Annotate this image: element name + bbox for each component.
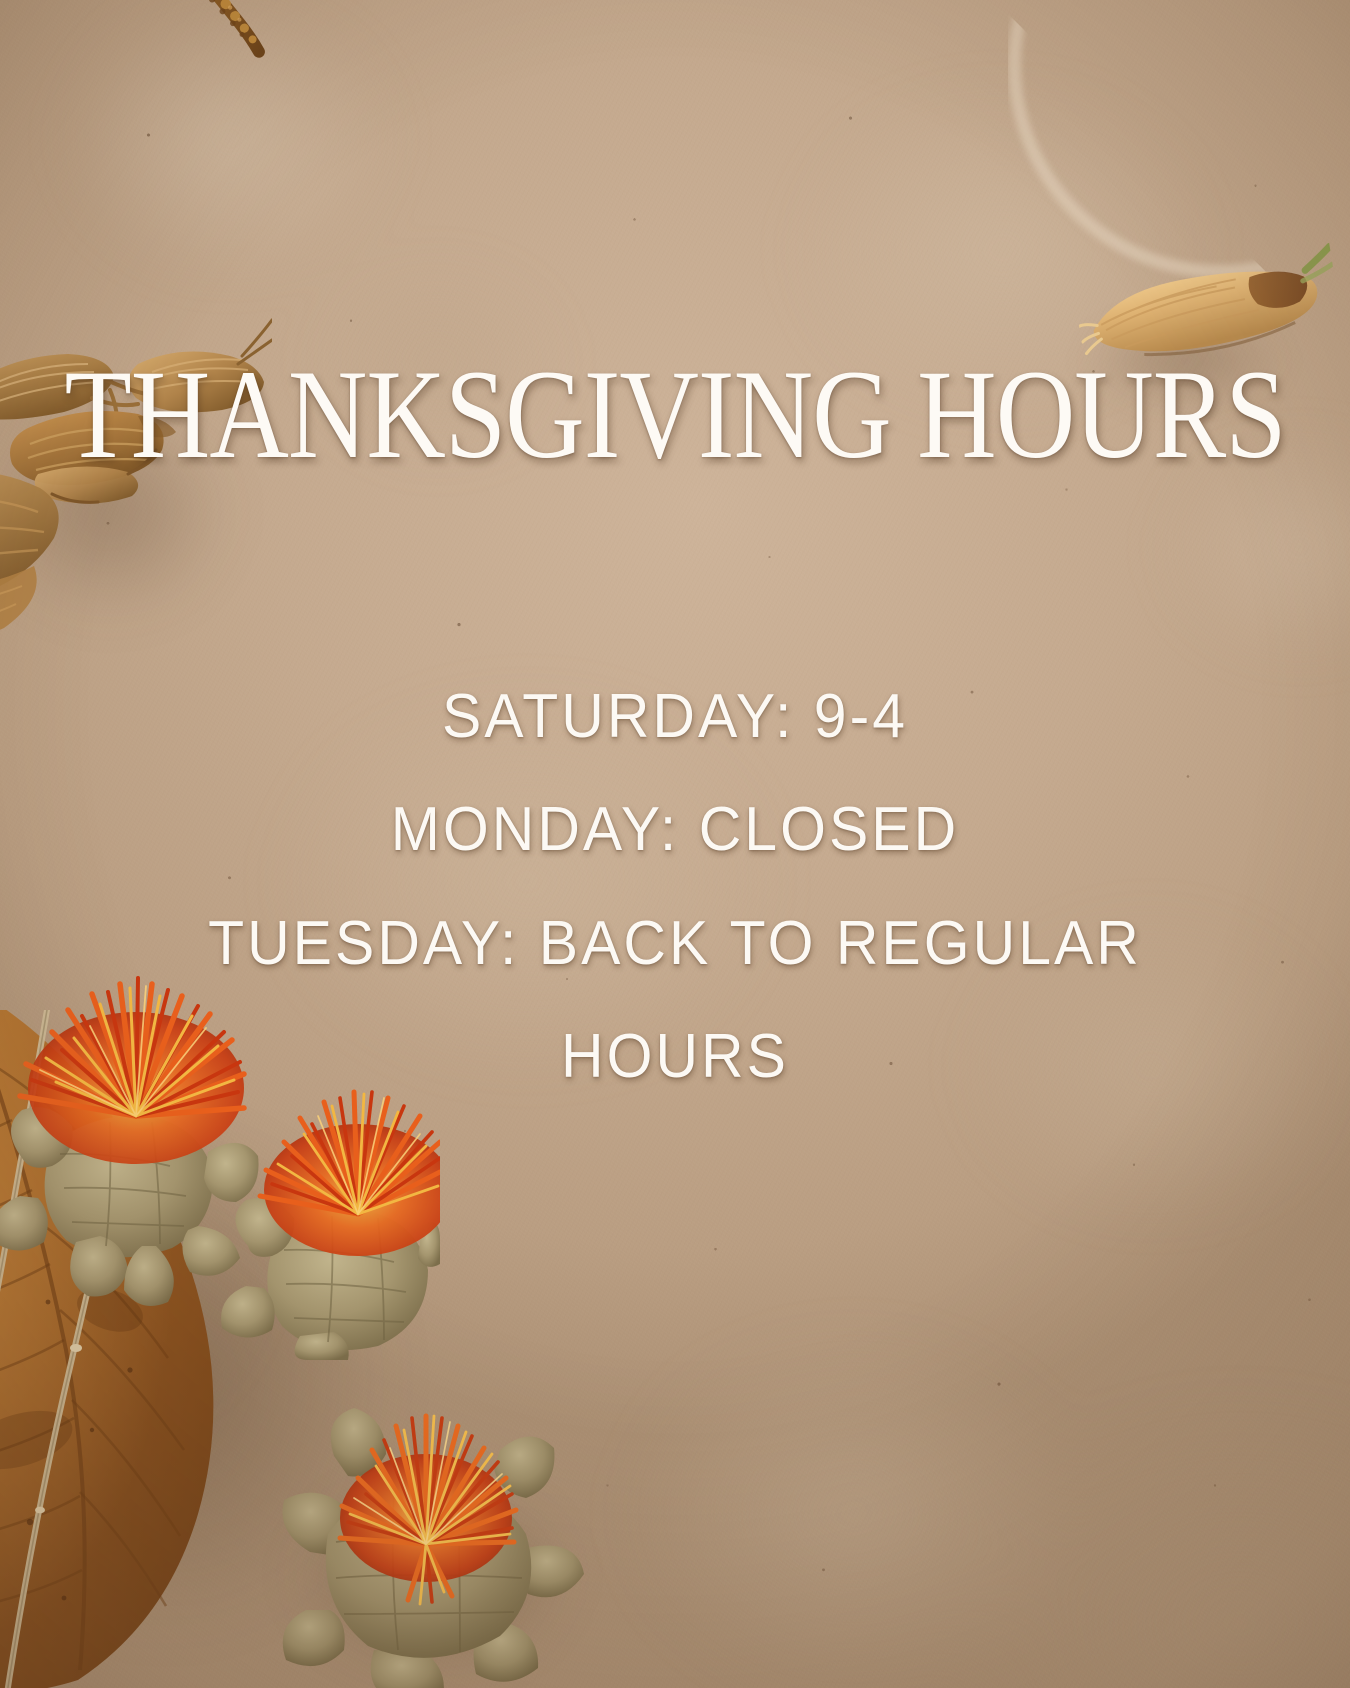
page-title: THANKSGIVING HOURS — [0, 352, 1350, 479]
hours-line-saturday: SATURDAY: 9-4 — [34, 660, 1317, 773]
text-layer: THANKSGIVING HOURS SATURDAY: 9-4 MONDAY:… — [0, 0, 1350, 1688]
hours-list: SATURDAY: 9-4 MONDAY: CLOSED TUESDAY: BA… — [0, 660, 1350, 1114]
hours-line-tuesday: TUESDAY: BACK TO REGULAR HOURS — [34, 887, 1317, 1114]
page-title-text: THANKSGIVING HOURS — [65, 352, 1286, 479]
hours-line-monday: MONDAY: CLOSED — [34, 773, 1317, 886]
thanksgiving-hours-poster: THANKSGIVING HOURS SATURDAY: 9-4 MONDAY:… — [0, 0, 1350, 1688]
